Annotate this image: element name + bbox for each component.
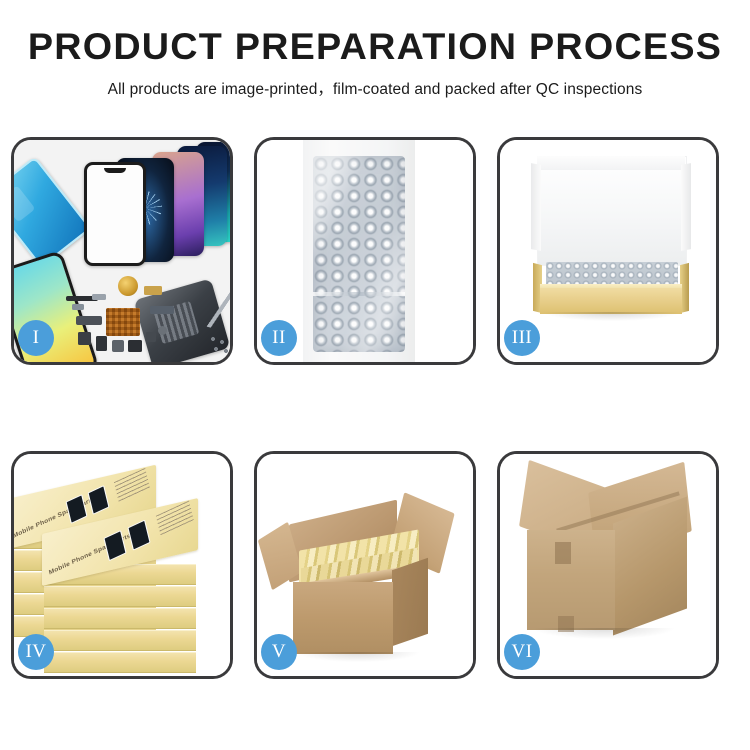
gold-contact-part-icon — [144, 286, 162, 295]
process-step-panel-2: II — [254, 137, 476, 365]
sealed-carton-front-panel — [527, 530, 615, 630]
carton-front-panel — [293, 582, 393, 654]
stacked-box-front-5 — [44, 652, 196, 673]
process-step-panel-4: Mobile Phone Spare Parts Mobile Phone Sp… — [11, 451, 233, 679]
bubble-wrap-seam — [313, 292, 405, 296]
box-shadow — [544, 312, 678, 321]
page-header: PRODUCT PREPARATION PROCESS All products… — [0, 0, 750, 99]
step-badge-3: III — [504, 320, 540, 356]
carton-side-panel — [392, 558, 428, 646]
process-steps-grid: I II — [11, 137, 739, 679]
box-lid-right-wing — [681, 163, 691, 251]
screen-protector-icon — [84, 162, 146, 266]
stacked-box-front-4 — [44, 630, 196, 651]
bubble-wrap-sheen — [313, 156, 405, 352]
connector-board-part-icon — [106, 308, 140, 336]
box-screen-graphic-back-1 — [66, 494, 88, 524]
page-subtitle: All products are image-printed，film-coat… — [0, 77, 750, 99]
camera-module-part-icon — [78, 332, 91, 345]
home-button-part-icon — [158, 326, 167, 335]
flex-cable-left-part-icon — [76, 316, 102, 325]
blue-back-cover-icon — [14, 156, 92, 268]
box-lid-left-wing — [531, 163, 541, 251]
sealed-carton-shadow — [534, 628, 674, 639]
step-badge-5: V — [261, 634, 297, 670]
process-step-panel-5: V — [254, 451, 476, 679]
step-badge-4: IV — [18, 634, 54, 670]
sealed-carton-tape-patch-top — [555, 542, 571, 564]
metal-bracket-part-icon — [72, 304, 84, 310]
step-badge-6: VI — [504, 634, 540, 670]
vibrator-part-icon — [112, 340, 124, 352]
box-spec-lines-back — [114, 468, 150, 503]
shield-plate-part-icon — [92, 294, 106, 300]
page-title: PRODUCT PREPARATION PROCESS — [0, 28, 750, 67]
process-step-panel-3: III — [497, 137, 719, 365]
box-lid-fold — [537, 156, 685, 170]
buzzer-part-icon — [128, 340, 142, 352]
box-front-panel — [540, 288, 682, 314]
box-screen-graphic-front-2 — [127, 520, 150, 551]
carton-shadow — [297, 652, 419, 662]
box-spec-lines-front — [156, 501, 194, 538]
step-badge-1: I — [18, 320, 54, 356]
sim-tray-part-icon — [96, 336, 107, 351]
process-step-panel-6: VI — [497, 451, 719, 679]
screws-icon — [210, 336, 230, 356]
box-screen-graphic-back-2 — [88, 485, 110, 515]
flex-cable-right-part-icon — [150, 306, 174, 314]
stacked-box-front-2 — [44, 586, 196, 607]
stacked-box-front-3 — [44, 608, 196, 629]
step-badge-2: II — [261, 320, 297, 356]
small-chip-part-icon — [146, 332, 156, 342]
process-step-panel-1: I — [11, 137, 233, 365]
box-lid-icon — [537, 156, 687, 266]
speaker-part-icon — [118, 276, 138, 296]
spare-parts-group — [70, 282, 180, 362]
